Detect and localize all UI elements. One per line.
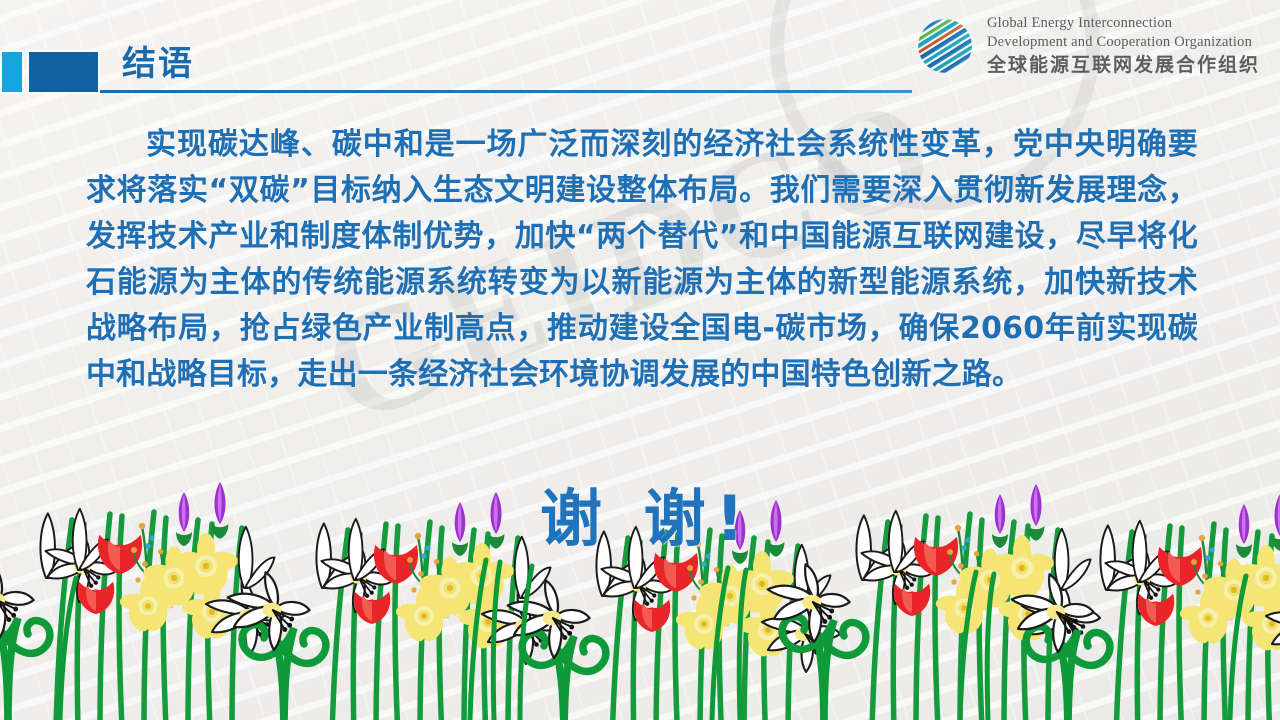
- accent-square-cyan: [0, 50, 24, 94]
- thanks-text: 谢 谢!: [540, 468, 754, 558]
- page-title: 结语: [122, 36, 194, 85]
- logo-text-block: Global Energy Interconnection Developmen…: [987, 14, 1260, 78]
- globe-icon: [913, 14, 977, 78]
- logo-en-line2: Development and Cooperation Organization: [987, 33, 1260, 52]
- slide-canvas: GEIDCO 结语: [0, 0, 1280, 720]
- logo-cn-name: 全球能源互联网发展合作组织: [987, 53, 1260, 78]
- title-divider: [100, 90, 912, 93]
- body-paragraph: 实现碳达峰、碳中和是一场广泛而深刻的经济社会系统性变革，党中央明确要求将落实“双…: [86, 122, 1198, 398]
- geidco-logo: Global Energy Interconnection Developmen…: [913, 14, 1260, 78]
- logo-en-line1: Global Energy Interconnection: [987, 14, 1260, 33]
- accent-square-blue: [27, 50, 100, 94]
- slide-header: 结语: [0, 0, 1280, 110]
